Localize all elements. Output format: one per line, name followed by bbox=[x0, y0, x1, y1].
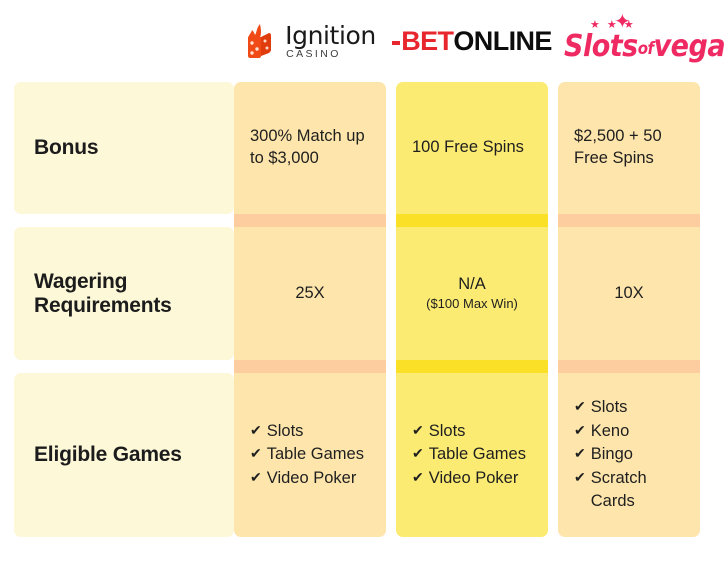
sov-word-slots: Slots bbox=[564, 29, 638, 64]
cell-content: ✔Slots✔Table Games✔Video Poker bbox=[234, 420, 386, 490]
eligible-game-item: ✔Table Games bbox=[250, 443, 370, 466]
eligible-game-label: Bingo bbox=[591, 443, 684, 466]
checkmark-icon: ✔ bbox=[412, 467, 424, 489]
cell-wagering-ignition-casino: 25X bbox=[234, 227, 386, 360]
sov-word-of: of bbox=[638, 38, 654, 58]
checkmark-icon: ✔ bbox=[574, 467, 586, 489]
cell-content: 300% Match up to $3,000 bbox=[234, 126, 386, 170]
eligible-game-label: Slots bbox=[591, 396, 684, 419]
checkmark-icon: ✔ bbox=[412, 443, 424, 465]
checkmark-icon: ✔ bbox=[250, 420, 262, 442]
row-separator-band bbox=[234, 214, 386, 227]
cell-wagering-betonline: N/A ($100 Max Win) bbox=[396, 227, 548, 360]
ignition-casino-logo: Ignition CASINO bbox=[244, 23, 376, 60]
eligible-game-label: Slots bbox=[267, 420, 370, 443]
row-separator-band bbox=[558, 214, 700, 227]
eligible-game-item: ✔Video Poker bbox=[250, 467, 370, 490]
row-label-bonus: Bonus bbox=[14, 82, 234, 214]
comparison-table: Ignition CASINO BET ONLINE ★ ★ ★ ✦ Slots… bbox=[0, 0, 725, 587]
ignition-logo-subtitle: CASINO bbox=[286, 49, 341, 60]
brand-logo-ignition-casino[interactable]: Ignition CASINO bbox=[234, 0, 386, 82]
row-label-text: Bonus bbox=[34, 136, 98, 160]
cell-content: ✔Slots✔Table Games✔Video Poker bbox=[396, 420, 548, 490]
eligible-game-item: ✔Slots bbox=[412, 420, 532, 443]
slots-of-vegas-logo: ★ ★ ★ ✦ Slotsofvegas bbox=[564, 17, 704, 65]
ignition-logo-name: Ignition bbox=[285, 23, 376, 48]
sov-word-vegas: vegas bbox=[654, 29, 725, 64]
row-separator-band bbox=[558, 360, 700, 373]
cell-content: 25X bbox=[234, 283, 386, 304]
eligible-game-item: ✔Keno bbox=[574, 420, 684, 443]
eligible-game-label: Keno bbox=[591, 420, 684, 443]
cell-bonus-betonline: 100 Free Spins bbox=[396, 82, 548, 214]
checkmark-icon: ✔ bbox=[574, 443, 586, 465]
slots-of-vegas-big-star-icon: ✦ bbox=[614, 12, 698, 28]
checkmark-icon: ✔ bbox=[250, 443, 262, 465]
ignition-flaming-dice-icon bbox=[244, 23, 278, 59]
wagering-value: 25X bbox=[250, 283, 370, 304]
row-label-text: Wagering Requirements bbox=[34, 270, 234, 317]
cell-content: N/A ($100 Max Win) bbox=[396, 274, 548, 313]
cell-content: ✔Slots✔Keno✔Bingo✔Scratch Cards bbox=[558, 396, 700, 513]
row-separator-band bbox=[396, 360, 548, 373]
bonus-value: 300% Match up to $3,000 bbox=[250, 126, 370, 170]
brand-logo-slots-of-vegas[interactable]: ★ ★ ★ ✦ Slotsofvegas bbox=[558, 0, 710, 82]
row-label-eligible-games: Eligible Games bbox=[14, 373, 234, 537]
wagering-value: N/A bbox=[412, 274, 532, 295]
eligible-game-label: Video Poker bbox=[429, 467, 532, 490]
eligible-game-item: ✔Bingo bbox=[574, 443, 684, 466]
eligible-games-list: ✔Slots✔Table Games✔Video Poker bbox=[412, 420, 532, 490]
checkmark-icon: ✔ bbox=[574, 420, 586, 442]
row-label-text: Eligible Games bbox=[34, 443, 182, 467]
eligible-game-label: Scratch Cards bbox=[591, 467, 684, 514]
eligible-game-label: Slots bbox=[429, 420, 532, 443]
betonline-logo: BET ONLINE bbox=[392, 26, 552, 57]
cell-bonus-ignition-casino: 300% Match up to $3,000 bbox=[234, 82, 386, 214]
eligible-game-item: ✔Scratch Cards bbox=[574, 467, 684, 514]
checkmark-icon: ✔ bbox=[250, 467, 262, 489]
betonline-dash-icon bbox=[392, 41, 400, 45]
cell-content: 10X bbox=[558, 283, 700, 304]
eligible-game-label: Table Games bbox=[267, 443, 370, 466]
eligible-game-label: Video Poker bbox=[267, 467, 370, 490]
cell-wagering-slots-of-vegas: 10X bbox=[558, 227, 700, 360]
eligible-game-item: ✔Slots bbox=[250, 420, 370, 443]
eligible-games-list: ✔Slots✔Table Games✔Video Poker bbox=[250, 420, 370, 490]
row-separator-band bbox=[396, 214, 548, 227]
wagering-value: 10X bbox=[574, 283, 684, 304]
cell-content: 100 Free Spins bbox=[396, 137, 548, 159]
cell-bonus-slots-of-vegas: $2,500 + 50 Free Spins bbox=[558, 82, 700, 214]
betonline-logo-part1: BET bbox=[401, 26, 453, 57]
checkmark-icon: ✔ bbox=[574, 396, 586, 418]
slots-of-vegas-wordmark: Slotsofvegas bbox=[564, 29, 704, 64]
brand-logo-row: Ignition CASINO BET ONLINE ★ ★ ★ ✦ Slots… bbox=[0, 0, 725, 82]
cell-eligible-games-ignition-casino: ✔Slots✔Table Games✔Video Poker bbox=[234, 373, 386, 537]
eligible-game-item: ✔Video Poker bbox=[412, 467, 532, 490]
bonus-value: 100 Free Spins bbox=[412, 137, 532, 159]
row-label-wagering-requirements: Wagering Requirements bbox=[14, 227, 234, 360]
checkmark-icon: ✔ bbox=[412, 420, 424, 442]
cell-content: $2,500 + 50 Free Spins bbox=[558, 126, 700, 170]
betonline-logo-part2: ONLINE bbox=[453, 26, 551, 57]
cell-eligible-games-slots-of-vegas: ✔Slots✔Keno✔Bingo✔Scratch Cards bbox=[558, 373, 700, 537]
cell-eligible-games-betonline: ✔Slots✔Table Games✔Video Poker bbox=[396, 373, 548, 537]
eligible-game-item: ✔Slots bbox=[574, 396, 684, 419]
row-separator-band bbox=[234, 360, 386, 373]
brand-logo-betonline[interactable]: BET ONLINE bbox=[396, 0, 548, 82]
bonus-value: $2,500 + 50 Free Spins bbox=[574, 126, 684, 170]
eligible-game-item: ✔Table Games bbox=[412, 443, 532, 466]
table-body: Bonus Wagering Requirements Eligible Gam… bbox=[0, 82, 725, 537]
ignition-wordmark: Ignition CASINO bbox=[285, 23, 376, 60]
eligible-game-label: Table Games bbox=[429, 443, 532, 466]
wagering-subnote: ($100 Max Win) bbox=[412, 296, 532, 313]
eligible-games-list: ✔Slots✔Keno✔Bingo✔Scratch Cards bbox=[574, 396, 684, 513]
